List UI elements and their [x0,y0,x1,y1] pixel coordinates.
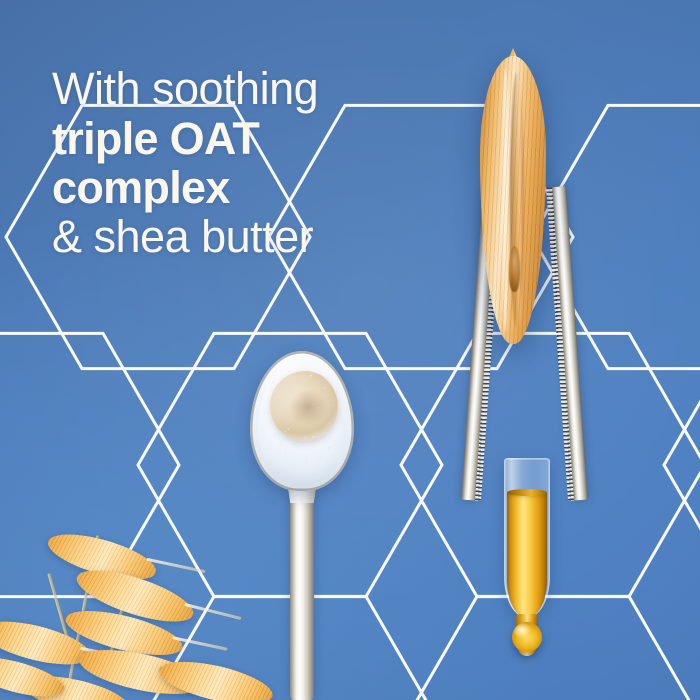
metal-spoon [248,351,356,700]
headline-line-2: triple OAT [52,116,318,161]
oat-grain-germ [509,246,520,292]
oat-powder-scatter [260,429,346,463]
headline-line-1: With soothing [52,66,318,111]
hexagon-cell-4 [401,596,700,700]
pipette-oil-meniscus [507,489,547,496]
spoon-handle [290,469,314,700]
oat-stalks [0,512,236,700]
oat-powder [270,371,338,441]
headline-text-block: With soothing triple OAT complex & shea … [52,66,318,259]
product-hero-banner: With soothing triple OAT complex & shea … [0,0,700,700]
hexagon-cell-5 [664,333,700,596]
spoon-bowl [250,351,354,491]
tweezer-arm-right [551,186,588,500]
oil-droplet [512,622,542,652]
headline-line-3: complex [52,165,318,210]
pipette-oil-column [507,492,547,618]
headline-line-4: & shea butter [52,214,318,259]
tweezer-serration-right [546,187,574,501]
